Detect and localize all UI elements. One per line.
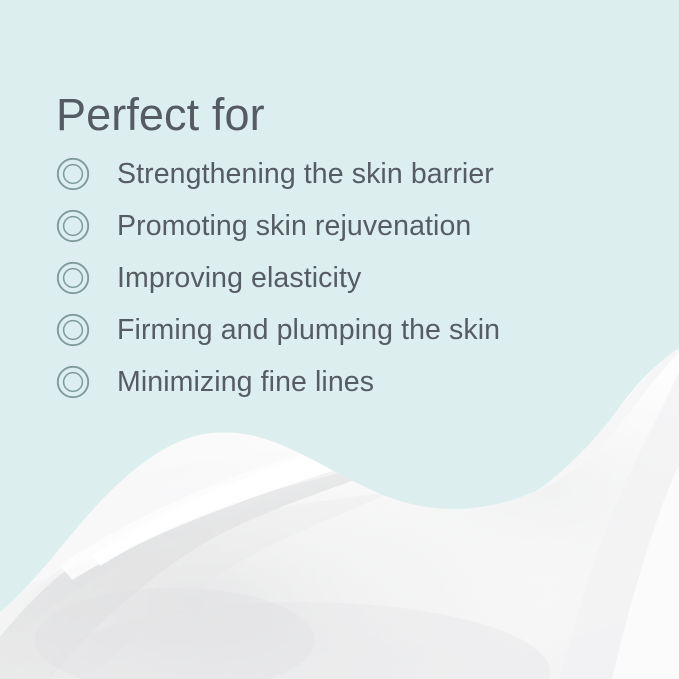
page-title: Perfect for [56, 90, 265, 140]
double-circle-icon [56, 313, 90, 347]
list-item: Strengthening the skin barrier [56, 148, 500, 200]
list-item-label: Minimizing fine lines [117, 368, 374, 397]
list-item: Minimizing fine lines [56, 356, 500, 408]
list-item: Firming and plumping the skin [56, 304, 500, 356]
list-item-label: Improving elasticity [117, 264, 361, 293]
list-item-label: Strengthening the skin barrier [117, 160, 494, 189]
list-item-label: Promoting skin rejuvenation [117, 212, 471, 241]
double-circle-icon [56, 365, 90, 399]
double-circle-icon [56, 261, 90, 295]
double-circle-icon [56, 157, 90, 191]
list-item: Promoting skin rejuvenation [56, 200, 500, 252]
double-circle-icon [56, 209, 90, 243]
list-item-label: Firming and plumping the skin [117, 316, 500, 345]
list-item: Improving elasticity [56, 252, 500, 304]
product-benefits-card: Perfect for Strengthening the skin barri… [0, 0, 679, 679]
benefit-list: Strengthening the skin barrier Promoting… [56, 148, 500, 408]
